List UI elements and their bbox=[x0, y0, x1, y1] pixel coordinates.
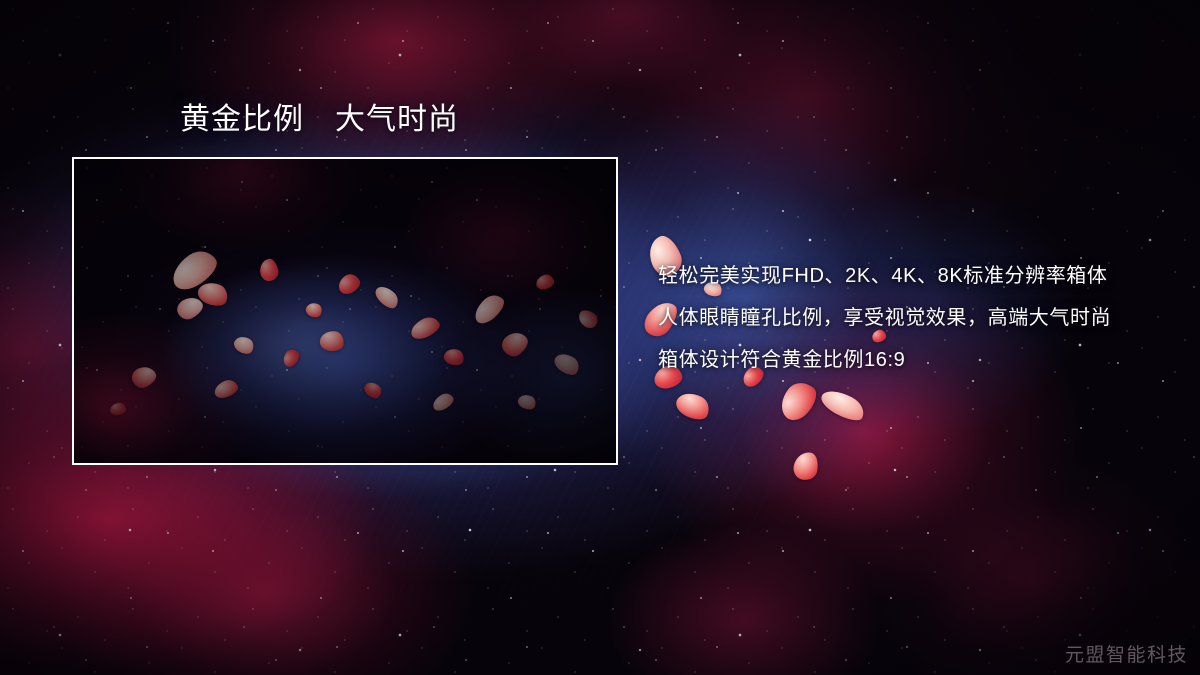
body-text-block: 轻松完美实现FHD、2K、4K、8K标准分辨率箱体 人体眼睛瞳孔比例，享受视觉效… bbox=[658, 255, 1178, 381]
rose-petal bbox=[818, 384, 869, 425]
body-line-1: 轻松完美实现FHD、2K、4K、8K标准分辨率箱体 bbox=[658, 255, 1178, 297]
photo-inner bbox=[74, 159, 616, 463]
body-line-2: 人体眼睛瞳孔比例，享受视觉效果，高端大气时尚 bbox=[658, 297, 1178, 339]
presentation-slide: 黄金比例 大气时尚 bbox=[0, 0, 1200, 675]
watermark: 元盟智能科技 bbox=[1065, 640, 1188, 667]
photo-dark-overlay bbox=[74, 159, 616, 463]
rose-petal bbox=[791, 450, 820, 482]
rose-petal bbox=[774, 376, 823, 426]
framed-photo bbox=[72, 157, 618, 465]
body-line-3: 箱体设计符合黄金比例16:9 bbox=[658, 339, 1178, 381]
rose-petal bbox=[672, 388, 713, 424]
slide-title: 黄金比例 大气时尚 bbox=[180, 101, 459, 139]
